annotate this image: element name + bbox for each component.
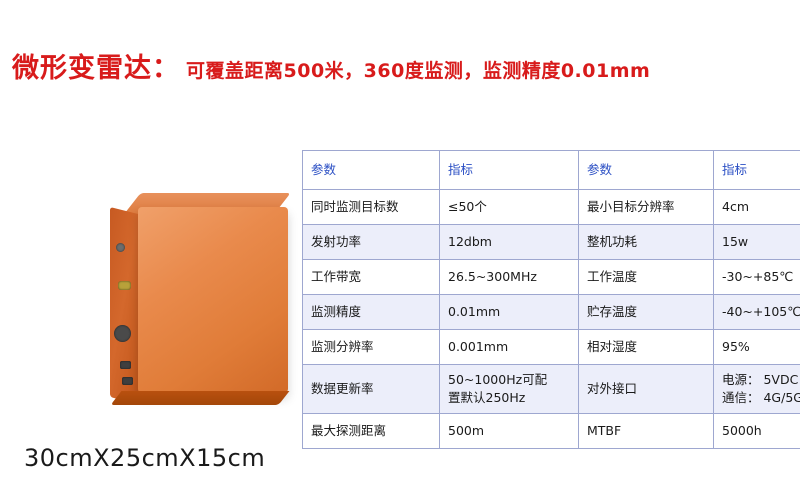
connector-icon — [122, 377, 133, 385]
table-cell: 监测分辨率 — [303, 330, 440, 365]
table-cell: 0.01mm — [440, 295, 579, 330]
table-cell: 监测精度 — [303, 295, 440, 330]
table-header-cell: 指标 — [714, 151, 800, 190]
page-title: 微形变雷达： 可覆盖距离500米，360度监测，监测精度0.01mm — [12, 46, 650, 85]
dimension-label: 30cmX25cmX15cm — [24, 444, 265, 472]
connector-icon — [118, 281, 131, 290]
table-cell: 15w — [714, 225, 800, 260]
table-cell: 0.001mm — [440, 330, 579, 365]
table-row: 同时监测目标数≤50个最小目标分辨率4cm — [303, 190, 800, 225]
table-cell: 对外接口 — [579, 365, 714, 414]
table-row: 工作带宽26.5~300MHz工作温度-30~+85℃ — [303, 260, 800, 295]
table-header-row: 参数指标参数指标 — [303, 151, 800, 190]
table-cell: ≤50个 — [440, 190, 579, 225]
table-cell: 4cm — [714, 190, 800, 225]
title-sub-text: 可覆盖距离500米，360度监测，监测精度0.01mm — [186, 56, 650, 83]
connector-icon — [116, 243, 125, 252]
table-cell: 同时监测目标数 — [303, 190, 440, 225]
table-cell: 95% — [714, 330, 800, 365]
table-header-cell: 参数 — [303, 151, 440, 190]
table-cell: MTBF — [579, 414, 714, 449]
radar-device-image — [86, 185, 301, 425]
table-cell: 整机功耗 — [579, 225, 714, 260]
table-cell: 50~1000Hz可配 置默认250Hz — [440, 365, 579, 414]
table-cell: 数据更新率 — [303, 365, 440, 414]
table-cell: 12dbm — [440, 225, 579, 260]
table-row: 监测精度0.01mm贮存温度-40~+105℃ — [303, 295, 800, 330]
table-row: 数据更新率50~1000Hz可配 置默认250Hz对外接口电源： 5VDC 通信… — [303, 365, 800, 414]
table-row: 最大探测距离500mMTBF5000h — [303, 414, 800, 449]
table-cell: 26.5~300MHz — [440, 260, 579, 295]
table-cell: 最小目标分辨率 — [579, 190, 714, 225]
table-cell: 500m — [440, 414, 579, 449]
device-front-face — [138, 207, 288, 393]
title-main-text: 微形变雷达： — [12, 46, 180, 85]
table-cell: 贮存温度 — [579, 295, 714, 330]
connector-icon — [114, 325, 131, 342]
table-cell: -40~+105℃ — [714, 295, 800, 330]
table-cell: 相对湿度 — [579, 330, 714, 365]
table-header-cell: 参数 — [579, 151, 714, 190]
connector-icon — [120, 361, 131, 369]
table-cell: 5000h — [714, 414, 800, 449]
table-cell: -30~+85℃ — [714, 260, 800, 295]
table-cell: 工作带宽 — [303, 260, 440, 295]
table-header-cell: 指标 — [440, 151, 579, 190]
table-cell: 电源： 5VDC 通信： 4G/5G — [714, 365, 800, 414]
spec-table-container: 参数指标参数指标同时监测目标数≤50个最小目标分辨率4cm发射功率12dbm整机… — [302, 150, 784, 449]
device-bottom-face — [111, 391, 290, 405]
table-cell: 发射功率 — [303, 225, 440, 260]
table-cell: 最大探测距离 — [303, 414, 440, 449]
table-cell: 工作温度 — [579, 260, 714, 295]
table-row: 发射功率12dbm整机功耗15w — [303, 225, 800, 260]
spec-table: 参数指标参数指标同时监测目标数≤50个最小目标分辨率4cm发射功率12dbm整机… — [302, 150, 800, 449]
table-row: 监测分辨率0.001mm相对湿度95% — [303, 330, 800, 365]
